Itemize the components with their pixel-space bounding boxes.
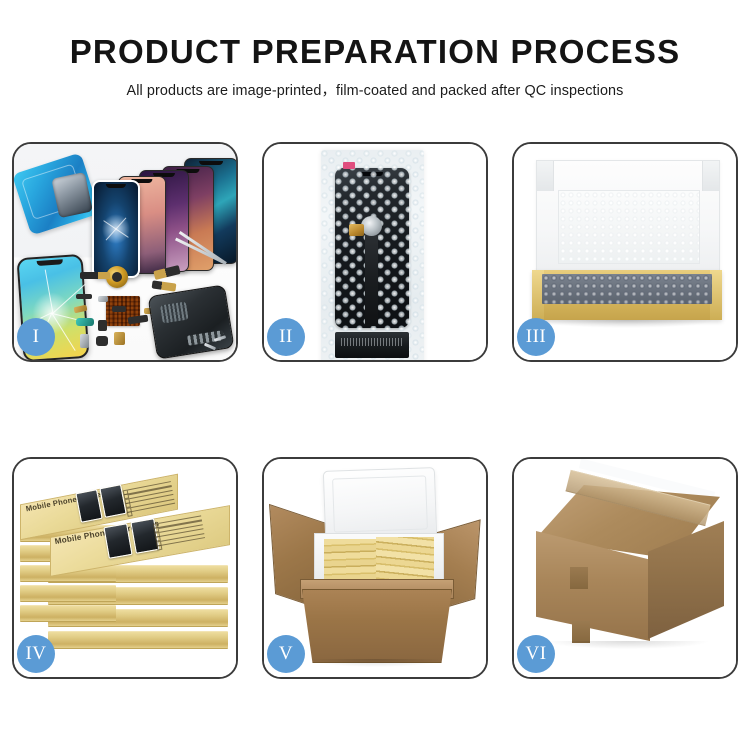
step-image-5: V	[264, 459, 486, 677]
retail-box-stack: Mobile Phone Spare Parts Mobile Phone Sp…	[20, 481, 234, 663]
step-badge-4: IV	[17, 635, 55, 673]
step-badge-2: II	[267, 318, 305, 356]
step-panel-2[interactable]: II	[262, 142, 488, 362]
screen-crack-pattern	[100, 212, 132, 246]
carton-tab-upper	[570, 567, 588, 589]
step-panel-4[interactable]: Mobile Phone Spare Parts Mobile Phone Sp…	[12, 457, 238, 679]
page-title: PRODUCT PREPARATION PROCESS	[0, 34, 750, 70]
drop-shadow	[548, 641, 708, 649]
step-image-1: I	[14, 144, 236, 360]
foam-padding-sheet	[558, 190, 700, 264]
drop-shadow	[310, 659, 442, 667]
page-subtitle: All products are image-printed，film-coat…	[0, 79, 750, 100]
box-layer-2b	[20, 605, 116, 622]
carton-tab-lower	[572, 621, 590, 643]
tweezers-icon	[168, 256, 232, 300]
bubble-wrap-package	[321, 150, 424, 360]
process-grid: I II	[12, 142, 738, 679]
carton-body	[302, 589, 452, 663]
box-layer-2a	[20, 585, 116, 602]
step-panel-6[interactable]: VI	[512, 457, 738, 679]
step-panel-1[interactable]: I	[12, 142, 238, 362]
step-panel-3[interactable]: III	[512, 142, 738, 362]
step-image-3: III	[514, 144, 736, 360]
kraft-box-tray	[532, 270, 722, 320]
stacked-yellow-boxes-b	[376, 537, 434, 585]
page-root: PRODUCT PREPARATION PROCESS All products…	[0, 0, 750, 750]
header: PRODUCT PREPARATION PROCESS All products…	[0, 0, 750, 100]
gold-contact-tab-a	[349, 224, 364, 236]
drop-shadow	[540, 320, 714, 328]
foam-box-lid	[323, 467, 437, 541]
step-badge-6: VI	[517, 635, 555, 673]
flex-cable-strip	[365, 234, 378, 326]
bubble-wrapped-contents	[542, 274, 712, 304]
step-panel-5[interactable]: V	[262, 457, 488, 679]
qc-pink-label	[343, 162, 355, 169]
step-badge-3: III	[517, 318, 555, 356]
step-badge-5: V	[267, 635, 305, 673]
phone-screen-1	[92, 180, 140, 278]
connector-strip	[335, 332, 409, 358]
box-layer-6	[48, 631, 228, 649]
step-image-2: II	[264, 144, 486, 360]
step-badge-1: I	[17, 318, 55, 356]
flex-cable-part-a	[80, 272, 110, 279]
step-image-4: Mobile Phone Spare Parts Mobile Phone Sp…	[14, 459, 236, 677]
step-image-6: VI	[514, 459, 736, 677]
